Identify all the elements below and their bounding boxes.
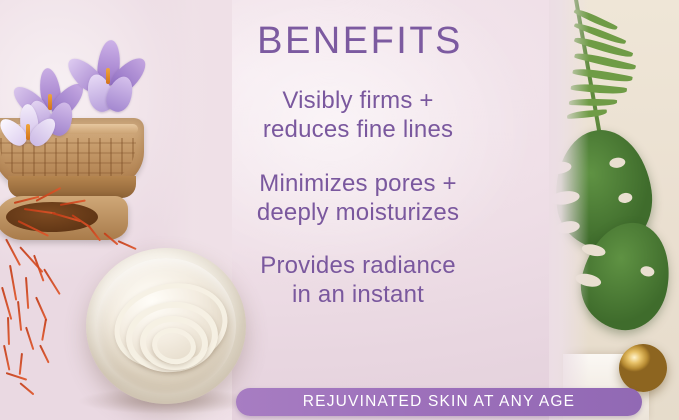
bottom-banner-text: REJUVINATED SKIN AT ANY AGE <box>303 393 575 411</box>
spoon-bowl <box>6 202 98 232</box>
basket-base <box>8 176 136 198</box>
banner-canvas: BENEFITS Visibly firms + reduces fine li… <box>0 0 679 420</box>
benefit-item-3: Provides radiance in an instant <box>168 251 548 310</box>
benefit-2-line-2: deeply moisturizes <box>257 199 459 226</box>
benefit-2-line-1: Minimizes pores + <box>259 170 456 197</box>
crocus-flower-icon <box>72 40 148 116</box>
benefit-3-line-1: Provides radiance <box>260 252 456 279</box>
benefit-1-line-2: reduces fine lines <box>263 116 453 143</box>
benefit-item-2: Minimizes pores + deeply moisturizes <box>168 169 548 228</box>
leaf-notch <box>618 192 633 204</box>
benefit-item-1: Visibly firms + reduces fine lines <box>168 86 548 145</box>
right-photo-fade <box>549 0 589 420</box>
benefit-1-line-1: Visibly firms + <box>282 87 433 114</box>
benefit-3-line-2: in an instant <box>292 281 424 308</box>
benefits-text-column: BENEFITS Visibly firms + reduces fine li… <box>168 22 548 362</box>
crocus-flower-icon <box>4 104 60 160</box>
stamen <box>106 68 110 84</box>
leaf-notch <box>609 157 626 169</box>
gold-sphere-icon <box>619 344 667 392</box>
stamen <box>26 124 30 140</box>
wooden-spoon-icon <box>0 196 128 240</box>
right-photo-block <box>549 0 679 420</box>
leaf-notch <box>640 265 656 278</box>
page-title: BENEFITS <box>168 22 548 60</box>
bottom-banner: REJUVINATED SKIN AT ANY AGE <box>236 388 642 416</box>
